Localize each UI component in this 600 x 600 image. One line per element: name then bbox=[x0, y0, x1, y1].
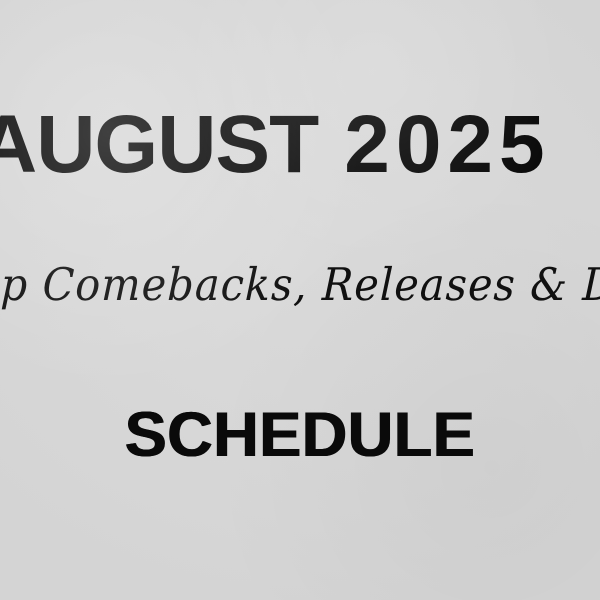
title-month: AUGUST bbox=[0, 99, 318, 190]
subtitle-row: K-Pop Comebacks, Releases & Debuts bbox=[0, 262, 600, 332]
subtitle-text: K-Pop Comebacks, Releases & Debuts bbox=[0, 262, 600, 307]
title-row: AUGUST2025 bbox=[0, 104, 600, 196]
poster-canvas: AUGUST2025 K-Pop Comebacks, Releases & D… bbox=[0, 0, 600, 600]
schedule-row: SCHEDULE bbox=[0, 404, 600, 474]
title-year: 2025 bbox=[344, 99, 550, 190]
title-text: AUGUST2025 bbox=[0, 104, 551, 186]
schedule-heading: SCHEDULE bbox=[125, 400, 476, 470]
